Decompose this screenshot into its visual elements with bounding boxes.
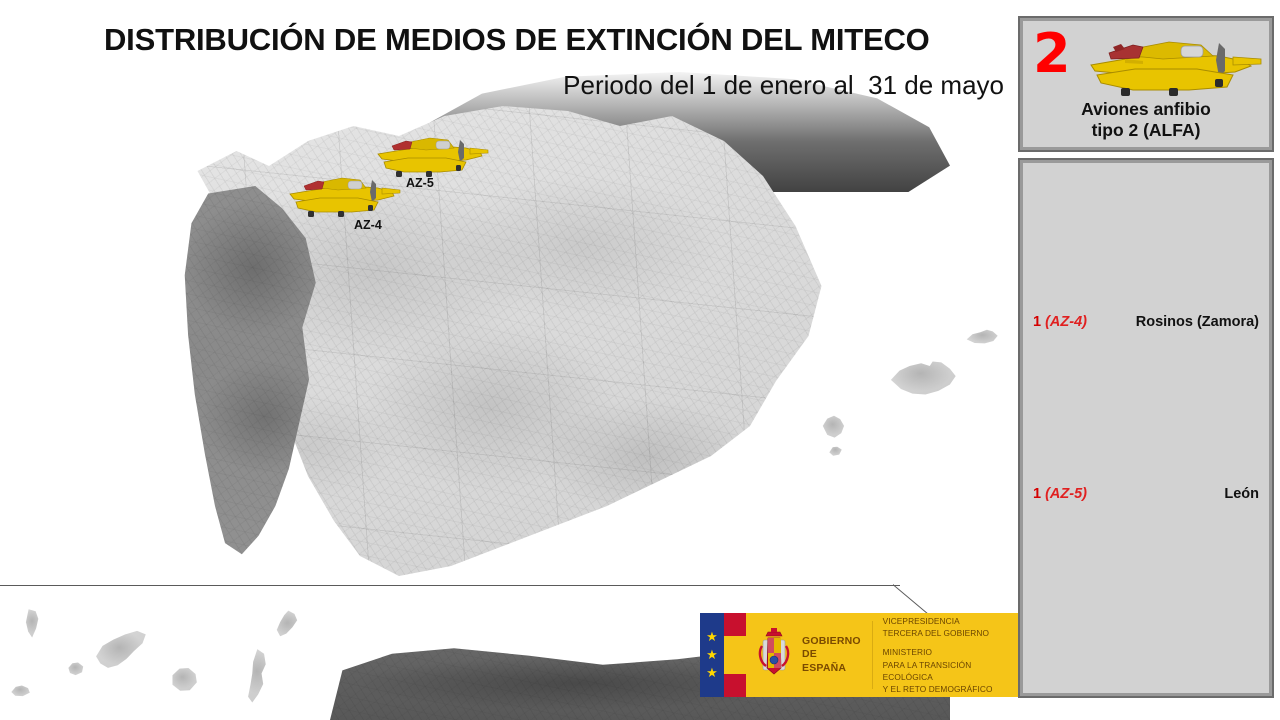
list-item[interactable]: 1 (AZ-5) León	[1023, 481, 1269, 507]
island-formentera	[828, 444, 844, 458]
row-quantity: 1	[1033, 486, 1041, 502]
logo-divider	[872, 621, 873, 689]
row-location: León	[1224, 486, 1259, 502]
flag-stripe-red	[724, 613, 746, 636]
ministry-label: VICEPRESIDENCIA TERCERA DEL GOBIERNO MIN…	[883, 613, 1018, 697]
row-code: (AZ-4)	[1045, 314, 1087, 330]
island-menorca	[966, 327, 1002, 347]
row-location: Rosinos (Zamora)	[1136, 314, 1259, 330]
amphibious-plane-icon	[1085, 35, 1263, 97]
list-item[interactable]: 1 (AZ-4) Rosinos (Zamora)	[1023, 309, 1269, 335]
star-icon: ★	[706, 649, 718, 661]
government-logo: ★ ★ ★ GOBIERNO DE ESPAÑA VICEPRESID	[700, 613, 1018, 697]
row-code: (AZ-5)	[1045, 486, 1087, 502]
island-mallorca	[888, 355, 960, 401]
star-icon: ★	[706, 631, 718, 643]
island-lanzarote	[272, 610, 306, 642]
legend-list: 1 (AZ-4) Rosinos (Zamora) 1 (AZ-5) León	[1020, 160, 1272, 696]
canary-inset-border	[0, 585, 900, 586]
spacer	[883, 639, 1018, 646]
island-fuerteventura	[238, 648, 280, 706]
legend-panel: 2 Aviones anfibio tipo 2 (ALFA) 1 (AZ-4)	[1020, 18, 1272, 696]
gobierno-label: GOBIERNO DE ESPAÑA	[802, 613, 862, 697]
vicepresidencia-label: VICEPRESIDENCIA TERCERA DEL GOBIERNO	[883, 615, 1018, 639]
page-title: DISTRIBUCIÓN DE MEDIOS DE EXTINCIÓN DEL …	[104, 22, 1004, 58]
island-el-hierro	[10, 683, 32, 699]
flag-block: ★ ★ ★	[700, 613, 746, 697]
island-la-gomera	[66, 660, 86, 678]
map-marker-label: AZ-5	[406, 176, 434, 190]
flag-stripe-red	[724, 674, 746, 697]
island-tenerife	[95, 630, 149, 674]
amphibious-plane-icon	[282, 172, 402, 220]
ministerio-label: MINISTERIO PARA LA TRANSICIÓN ECOLÓGICA …	[883, 646, 1018, 694]
island-ibiza	[820, 413, 848, 441]
eu-flag: ★ ★ ★	[700, 613, 724, 697]
island-gran-canaria	[168, 665, 200, 695]
coat-of-arms-icon	[746, 613, 802, 697]
flag-stripe-yellow	[724, 636, 746, 673]
map-canvas: AZ-5 AZ-4	[0, 0, 1012, 720]
row-quantity: 1	[1033, 314, 1041, 330]
star-icon: ★	[706, 667, 718, 679]
aircraft-count: 2	[1033, 27, 1071, 81]
island-la-palma	[22, 608, 44, 640]
page-subtitle: Periodo del 1 de enero al 31 de mayo	[104, 70, 1004, 101]
legend-title: Aviones anfibio tipo 2 (ALFA)	[1023, 99, 1269, 141]
legend-header: 2 Aviones anfibio tipo 2 (ALFA)	[1020, 18, 1272, 150]
spain-flag	[724, 613, 746, 697]
map-marker-label: AZ-4	[354, 218, 382, 232]
map-marker-az-4[interactable]: AZ-4	[282, 172, 402, 220]
